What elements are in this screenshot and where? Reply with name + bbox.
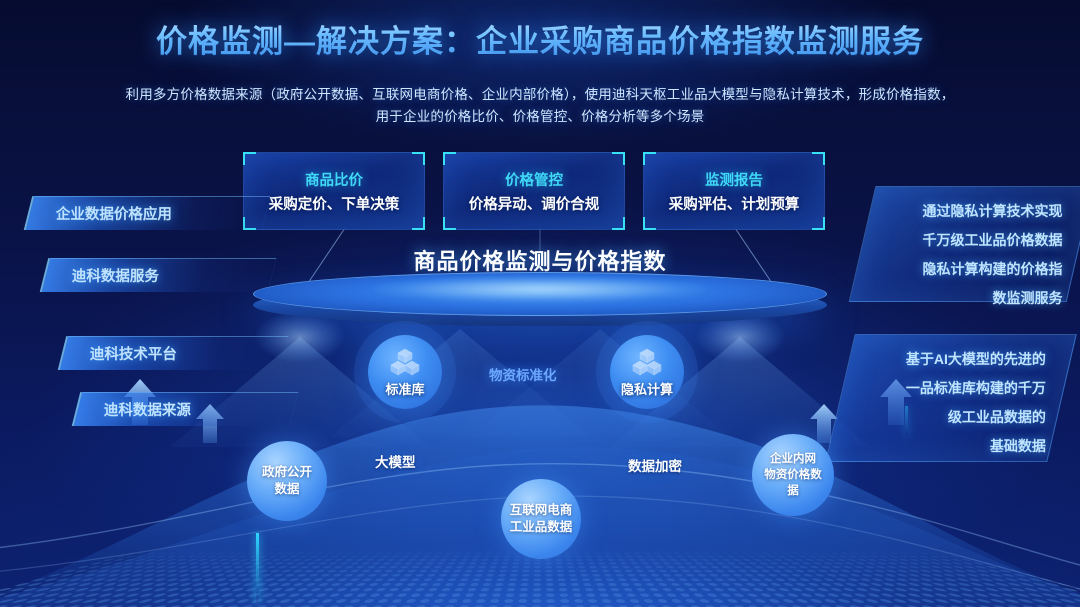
node-standard-library[interactable]: 标准库 [368,335,442,409]
right-panel-line: 基于AI大模型的先进的 [854,345,1046,374]
card-title: 商品比价 [305,169,363,190]
flow-label-data-encryption: 数据加密 [628,455,682,475]
solution-card-monitoring-report[interactable]: 监测报告 采购评估、计划预算 [643,152,825,230]
corner-bracket-icon [643,152,656,165]
node-label: 标准库 [385,379,424,398]
subtitle-line-2: 用于企业的价格比价、价格管控、价格分析等多个场景 [70,106,1010,128]
solution-card-group: 商品比价 采购定价、下单决策 价格管控 价格异动、调价合规 监测报告 采购评估、… [243,152,825,230]
accent-vertical-line-left [256,533,259,603]
source-sphere-text: 企业内网 物资价格数 据 [764,451,822,499]
right-panel-ai-model: 基于AI大模型的先进的 一品标准库构建的千万 级工业品数据的 基础数据 [825,334,1077,462]
solution-card-price-comparison[interactable]: 商品比价 采购定价、下单决策 [243,152,425,230]
sidebar-item-dike-tech-platform[interactable]: 迪科技术平台 [58,336,288,370]
card-subtitle: 采购定价、下单决策 [269,193,400,214]
source-line: 企业内网 [764,451,822,467]
right-panel-text: 基于AI大模型的先进的 一品标准库构建的千万 级工业品数据的 基础数据 [840,335,1060,471]
cube-stack-icon [390,348,420,376]
slide-canvas: 价格监测—解决方案：企业采购商品价格指数监测服务 利用多方价格数据来源（政府公开… [0,0,1080,607]
sidebar-item-dike-data-service[interactable]: 迪科数据服务 [40,258,276,292]
corner-bracket-icon [643,217,656,230]
right-panel-line: 通过隐私计算技术实现 [874,197,1062,226]
middle-label-material-standardization: 物资标准化 [489,364,557,384]
cube-stack-icon [632,348,662,376]
corner-bracket-icon [812,217,825,230]
corner-bracket-icon [243,152,256,165]
source-sphere-text: 互联网电商 工业品数据 [510,502,573,536]
sidebar-item-label: 迪科技术平台 [90,343,177,364]
right-panel-text: 通过隐私计算技术实现 千万级工业品价格数据 隐私计算构建的价格指 数监测服务 [860,187,1076,323]
source-line: 政府公开 [262,464,312,481]
right-panel-line: 基础数据 [854,432,1046,461]
sidebar-item-label: 迪科数据服务 [72,265,159,286]
source-sphere-ecommerce-data[interactable]: 互联网电商 工业品数据 [501,479,581,559]
card-subtitle: 采购评估、计划预算 [669,193,800,214]
source-line: 互联网电商 [510,502,573,519]
source-sphere-intranet-data[interactable]: 企业内网 物资价格数 据 [752,434,834,516]
corner-bracket-icon [812,152,825,165]
corner-bracket-icon [612,152,625,165]
right-panel-line: 一品标准库构建的千万 [854,374,1046,403]
subtitle-line-1: 利用多方价格数据来源（政府公开数据、互联网电商价格、企业内部价格），使用迪科天枢… [70,84,1010,106]
source-line: 工业品数据 [510,519,573,536]
flow-label-large-model: 大模型 [375,451,416,471]
page-title: 价格监测—解决方案：企业采购商品价格指数监测服务 [0,16,1080,61]
right-panel-privacy-computing: 通过隐私计算技术实现 千万级工业品价格数据 隐私计算构建的价格指 数监测服务 [849,186,1080,302]
platform-disc [253,272,827,334]
node-label: 隐私计算 [621,379,673,398]
sidebar-item-enterprise-data-price-app[interactable]: 企业数据价格应用 [24,196,270,230]
corner-bracket-icon [412,152,425,165]
source-sphere-text: 政府公开 数据 [262,464,312,498]
card-title: 监测报告 [705,169,763,190]
corner-bracket-icon [612,217,625,230]
sidebar-item-label: 企业数据价格应用 [56,203,172,224]
source-line: 物资价格数 [764,467,822,483]
sidebar-item-label: 迪科数据来源 [104,399,191,420]
source-line: 数据 [262,481,312,498]
corner-bracket-icon [443,152,456,165]
right-panel-line: 级工业品数据的 [854,403,1046,432]
corner-bracket-icon [412,217,425,230]
card-title: 价格管控 [505,169,563,190]
disc-glow [373,276,707,302]
source-sphere-government-data[interactable]: 政府公开 数据 [247,441,327,521]
right-panel-line: 隐私计算构建的价格指 [874,255,1062,284]
source-line: 据 [764,483,822,499]
node-privacy-computing[interactable]: 隐私计算 [610,335,684,409]
sidebar-item-dike-data-source[interactable]: 迪科数据来源 [72,392,298,426]
solution-card-price-control[interactable]: 价格管控 价格异动、调价合规 [443,152,625,230]
right-panel-line: 数监测服务 [874,284,1062,313]
right-panel-line: 千万级工业品价格数据 [874,226,1062,255]
corner-bracket-icon [443,217,456,230]
page-subtitle: 利用多方价格数据来源（政府公开数据、互联网电商价格、企业内部价格），使用迪科天枢… [70,84,1010,128]
card-subtitle: 价格异动、调价合规 [469,193,600,214]
